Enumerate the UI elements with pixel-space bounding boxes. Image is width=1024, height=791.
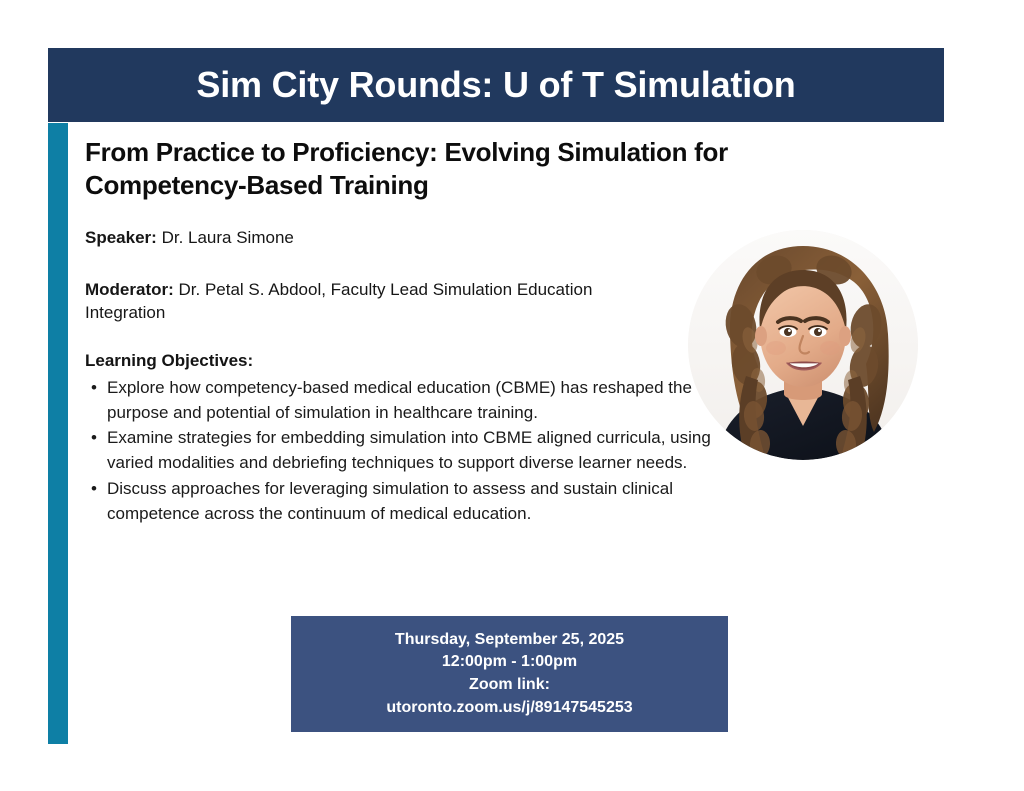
moderator-line: Moderator: Dr. Petal S. Abdool, Faculty … [85, 279, 645, 325]
speaker-line: Speaker: Dr. Laura Simone [85, 227, 705, 250]
bullet-icon: • [91, 376, 97, 401]
event-details-box: Thursday, September 25, 2025 12:00pm - 1… [291, 616, 728, 732]
headshot-illustration [688, 230, 918, 460]
speaker-headshot [688, 230, 918, 460]
speaker-block: Speaker: Dr. Laura Simone [85, 227, 705, 250]
objective-text: Discuss approaches for leveraging simula… [107, 479, 673, 523]
objective-text: Examine strategies for embedding simulat… [107, 428, 711, 472]
learning-objectives-list: • Explore how competency-based medical e… [85, 376, 705, 527]
bullet-icon: • [91, 477, 97, 502]
poster-series-title: Sim City Rounds: U of T Simulation [196, 67, 795, 103]
speaker-name: Dr. Laura Simone [162, 228, 294, 247]
list-item: • Examine strategies for embedding simul… [85, 426, 719, 476]
moderator-role-label: Moderator: [85, 280, 174, 299]
objective-text: Explore how competency-based medical edu… [107, 378, 692, 422]
zoom-link-url[interactable]: utoronto.zoom.us/j/89147545253 [386, 697, 632, 720]
event-date: Thursday, September 25, 2025 [395, 629, 624, 652]
title-banner: Sim City Rounds: U of T Simulation [48, 48, 944, 122]
learning-objectives-block: Learning Objectives: • Explore how compe… [85, 351, 705, 527]
list-item: • Discuss approaches for leveraging simu… [85, 477, 719, 527]
list-item: • Explore how competency-based medical e… [85, 376, 719, 426]
session-title: From Practice to Proficiency: Evolving S… [85, 136, 885, 203]
event-poster: Sim City Rounds: U of T Simulation From … [0, 0, 1024, 791]
accent-bar [48, 123, 68, 744]
bullet-icon: • [91, 426, 97, 451]
content-column: From Practice to Proficiency: Evolving S… [85, 136, 705, 528]
learning-objectives-heading: Learning Objectives: [85, 351, 705, 371]
moderator-block: Moderator: Dr. Petal S. Abdool, Faculty … [85, 279, 645, 325]
speaker-role-label: Speaker: [85, 228, 157, 247]
zoom-link-label: Zoom link: [469, 674, 550, 697]
event-time: 12:00pm - 1:00pm [442, 651, 577, 674]
